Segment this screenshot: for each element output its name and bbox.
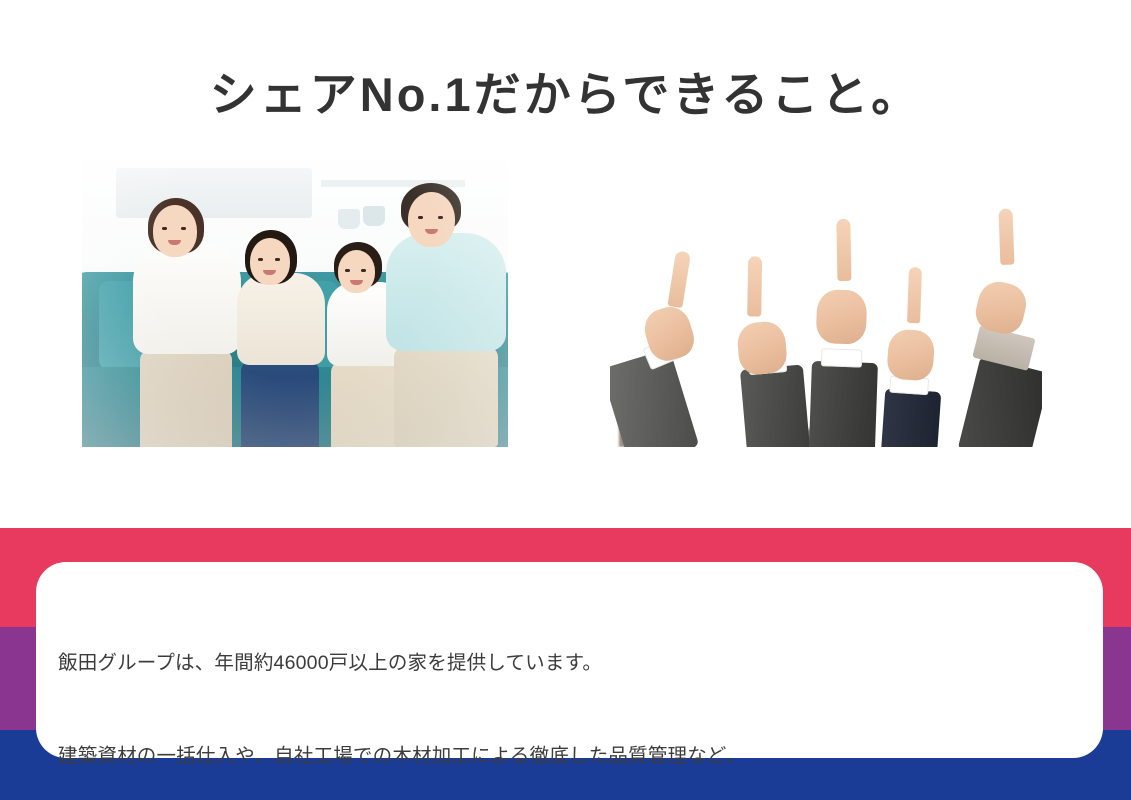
info-card: 飯田グループは、年間約46000戸以上の家を提供しています。 建築資材の一括仕入… [36,562,1103,758]
info-line: 建築資材の一括仕入や、自社工場での木材加工による徹底した品質管理など、 [58,741,1073,772]
index-finger [908,267,923,323]
info-line: 飯田グループは、年間約46000戸以上の家を提供しています。 [58,648,1073,679]
photo-vignette [82,150,508,447]
index-finger [999,208,1015,264]
fist [886,328,935,381]
pointing-hands-photo [610,150,1042,447]
info-card-text: 飯田グループは、年間約46000戸以上の家を提供しています。 建築資材の一括仕入… [58,586,1073,800]
page-title: シェアNo.1だからできること。 [0,64,1131,125]
index-finger [748,256,763,316]
family-photo-scene [82,150,508,447]
family-photo [82,150,508,447]
hands-photo-scene [610,150,1042,447]
suit-sleeve [958,356,1042,447]
index-finger [836,219,851,281]
index-finger [667,250,691,308]
shirt-cuff [821,348,862,367]
page-root: シェアNo.1だからできること。 [0,0,1131,800]
fist [736,321,788,377]
fist [815,289,867,345]
pointing-hand [927,270,1042,447]
